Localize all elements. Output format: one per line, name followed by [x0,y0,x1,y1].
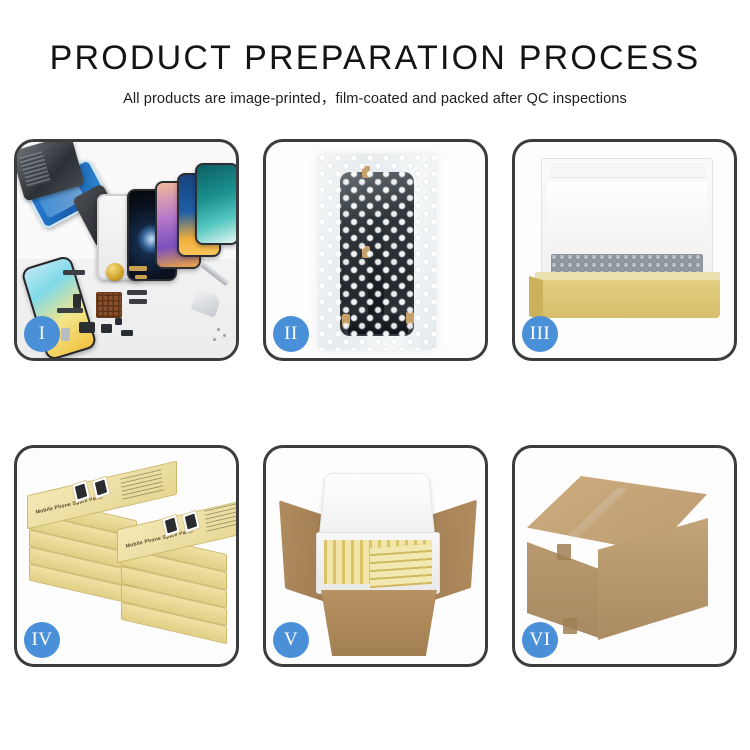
step-badge-2: II [273,316,309,352]
small-component-part [115,318,122,325]
bubble-wrap-bag [318,154,436,350]
adhesive-tab [342,314,350,326]
process-steps-grid: I II [14,139,736,667]
step-panel-2: II [263,139,488,361]
packing-tape [557,544,571,560]
step-badge-3: III [522,316,558,352]
phone-display-teal [195,163,236,245]
circuit-board-chip [96,292,122,318]
packing-tape [563,618,577,634]
step-panel-6: VI [512,445,737,667]
wrapped-screen-part [340,172,414,336]
step-panel-5: V [263,445,488,667]
flex-cable-part [127,290,147,295]
screw-part [217,328,220,331]
vibration-motor-part [106,263,124,281]
kraft-box-base [535,278,720,318]
sim-tray-part [121,330,133,336]
flex-cable-part [129,299,147,304]
camera-module-part [73,294,81,308]
header: PRODUCT PREPARATION PROCESS All products… [0,0,750,108]
adhesive-tab [362,166,370,178]
screw-part [213,338,216,341]
product-preparation-infographic: PRODUCT PREPARATION PROCESS All products… [0,0,750,750]
step-badge-1: I [24,316,60,352]
adhesive-tab [406,312,414,324]
step-panel-1: I [14,139,239,361]
foam-insert [547,182,707,254]
flex-cable-part [57,308,83,313]
packed-boxes [370,544,432,588]
speaker-module-part [79,322,95,333]
screen-flex-strip [368,216,384,326]
flex-cable-part [63,270,85,275]
page-subtitle: All products are image-printed，film-coat… [0,87,750,108]
step-badge-4: IV [24,622,60,658]
step-panel-4: Mobile Phone Spare Parts Mobile Phone Sp… [14,445,239,667]
gold-connector-part [135,275,147,279]
adhesive-tab [362,246,370,258]
step-badge-5: V [273,622,309,658]
battery-connector-part [101,324,112,333]
foam-box-lid [319,473,436,539]
carton-front-wall [310,590,448,656]
screw-part [223,334,226,337]
page-title: PRODUCT PREPARATION PROCESS [0,38,750,78]
metal-bracket-part [61,328,70,341]
step-panel-3: III [512,139,737,361]
gold-connector-part [129,266,147,271]
screen-bottom-section [348,314,408,334]
step-badge-6: VI [522,622,558,658]
